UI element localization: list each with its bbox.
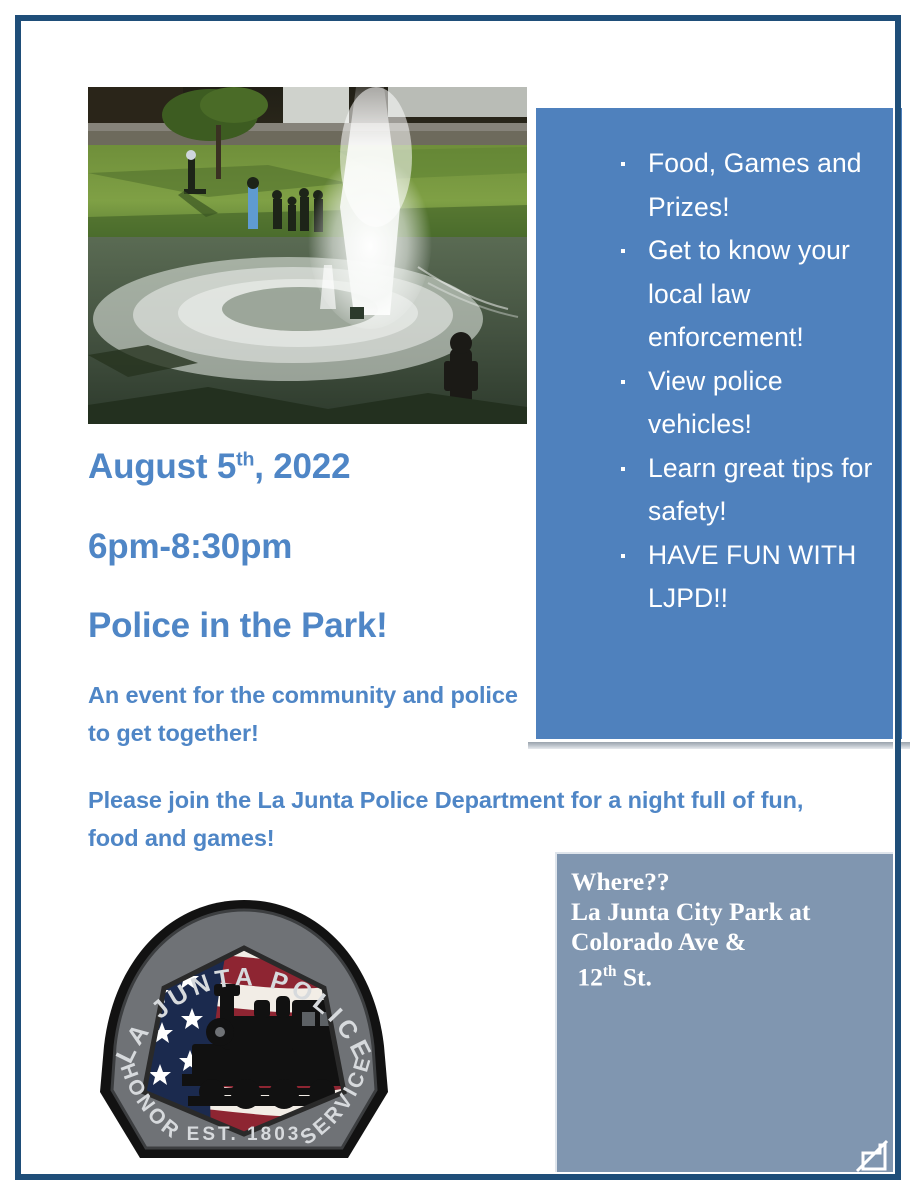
event-description-2: Please join the La Junta Police Departme… [88,781,848,857]
event-date-year: , 2022 [254,447,350,486]
where-info-text: Where?? La Junta City Park at Colorado A… [571,867,887,993]
event-time: 6pm-8:30pm [88,527,292,567]
bullets-panel-shadow [528,742,910,749]
resize-handle-icon[interactable] [853,1137,891,1175]
flyer-page: Food, Games and Prizes! Get to know your… [0,0,917,1202]
where-line-2: La Junta City Park at [571,897,887,927]
where-street-number: 12 [577,963,603,992]
list-item: View police vehicles! [648,360,886,447]
where-street-ordinal: th [603,963,617,980]
where-line-4: 12th St. [571,957,887,993]
event-description-1: An event for the community and police to… [88,676,518,752]
event-date-prefix: August 5 [88,447,236,486]
where-line-3: Colorado Ave & [571,927,887,957]
where-heading: Where?? [571,867,887,897]
park-fountain-photo [88,87,527,424]
event-title: Police in the Park! [88,606,388,646]
list-item: Get to know your local law enforcement! [648,229,886,360]
bullets-list: Food, Games and Prizes! Get to know your… [536,108,902,621]
event-date-ordinal: th [236,448,254,470]
where-street-suffix: St. [616,963,651,992]
badge-bottom-text: EST. 1803 [187,1124,302,1145]
list-item: Learn great tips for safety! [648,447,886,534]
where-info-box: Where?? La Junta City Park at Colorado A… [555,852,895,1179]
list-item: HAVE FUN WITH LJPD!! [648,534,886,621]
bullets-panel: Food, Games and Prizes! Get to know your… [533,105,905,742]
list-item: Food, Games and Prizes! [648,142,886,229]
event-date: August 5th, 2022 [88,447,350,487]
la-junta-police-badge-logo: LA JUNTA POLICE HONOR SERVICE EST. 1803 [96,896,393,1168]
